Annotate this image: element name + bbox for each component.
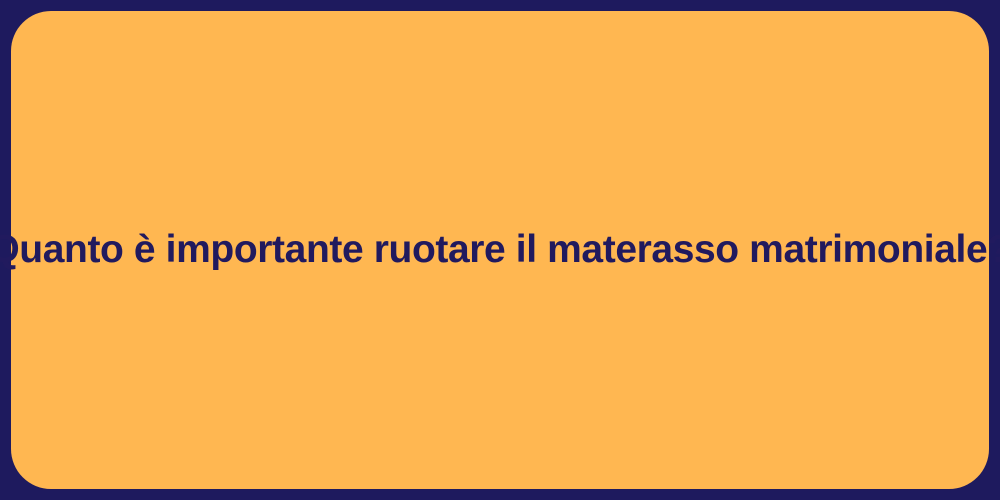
banner-frame: Quanto è importante ruotare il materasso… — [0, 0, 1000, 500]
banner-headline: Quanto è importante ruotare il materasso… — [0, 226, 1000, 275]
banner-card: Quanto è importante ruotare il materasso… — [11, 11, 989, 489]
